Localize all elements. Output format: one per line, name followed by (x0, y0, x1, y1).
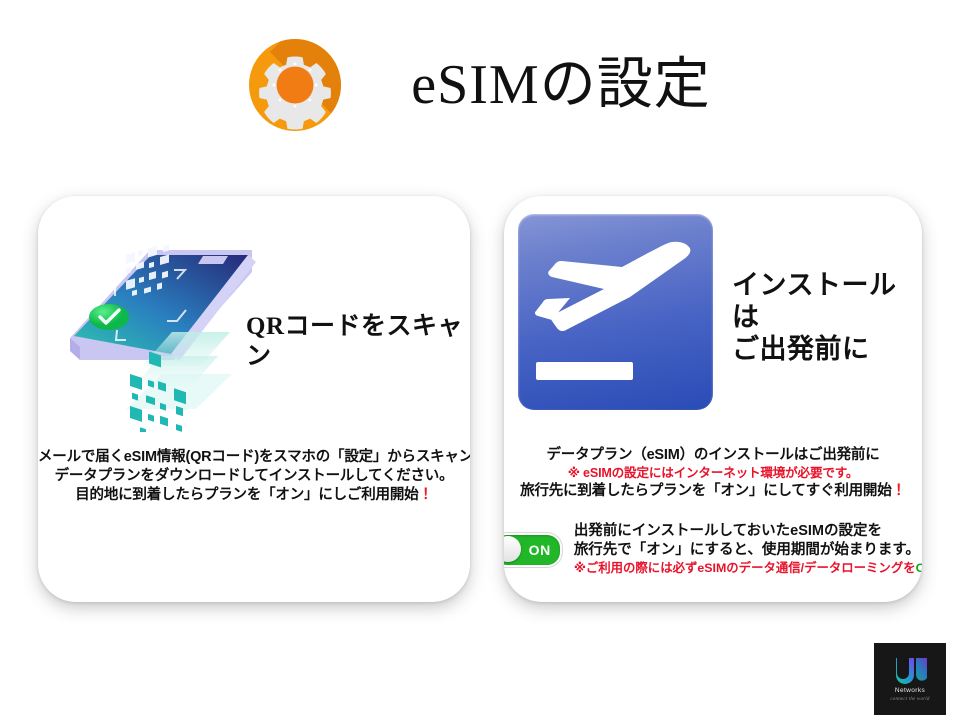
toggle-line-2: 旅行先で「オン」にすると、使用期間が始まります。 (574, 541, 922, 560)
toggle-on-label: ON (529, 543, 551, 557)
card-install-body: データプラン（eSIM）のインストールはご出発前に ※ eSIMの設定にはインタ… (504, 446, 922, 501)
card-scan-qr-line-3-exclamation: ！ (418, 487, 432, 503)
gear-icon (249, 39, 341, 131)
toggle-line-1: 出発前にインストールしておいたeSIMの設定を (574, 522, 922, 541)
page-header: eSIMの設定 (0, 30, 960, 140)
footer-brand-logo: Networks connect the world (874, 643, 946, 715)
card-scan-qr-line-3: 目的地に到着したらプランを「オン」にしご利用開始！ (38, 486, 470, 505)
card-scan-qr-line-3-text: 目的地に到着したらプランを「オン」にしご利用開始 (75, 487, 418, 503)
card-scan-qr-caption: QRコードをスキャン (246, 312, 470, 371)
toggle-line-3-on: ON (916, 561, 922, 575)
esim-toggle-description: 出発前にインストールしておいたeSIMの設定を 旅行先で「オン」にすると、使用期… (574, 522, 922, 577)
card-install-line-3-exclamation: ！ (892, 483, 906, 499)
card-scan-qr-line-2: データプランをダウンロードしてインストールしてください。 (38, 467, 470, 486)
card-install-hero: インストールは ご出発前に (504, 196, 922, 432)
card-scan-qr-line-1: メールで届くeSIM情報(QRコード)をスマホの「設定」からスキャンし、 (38, 448, 470, 467)
esim-toggle-row: ON 出発前にインストールしておいたeSIMの設定を 旅行先で「オン」にすると、… (504, 522, 922, 577)
card-scan-qr: QRコードをスキャン メールで届くeSIM情報(QRコード)をスマホの「設定」か… (38, 196, 470, 602)
card-install-line-1: データプラン（eSIM）のインストールはご出発前に (504, 446, 922, 465)
esim-on-toggle[interactable]: ON (504, 533, 562, 567)
toggle-knob[interactable] (504, 536, 521, 562)
card-install-caption: インストールは ご出発前に (732, 270, 922, 366)
footer-brand-name: Networks (895, 688, 925, 695)
card-scan-qr-hero: QRコードをスキャン (38, 196, 470, 432)
card-install-before-departure: インストールは ご出発前に データプラン（eSIM）のインストールはご出発前に … (504, 196, 922, 602)
toggle-line-3-text: ※ご利用の際には必ずeSIMのデータ通信/データローミングを (574, 561, 916, 575)
card-scan-qr-body: メールで届くeSIM情報(QRコード)をスマホの「設定」からスキャンし、 データ… (38, 448, 470, 505)
brand-mark-icon (893, 656, 927, 686)
card-install-line-2-warning: ※ eSIMの設定にはインターネット環境が必要です。 (504, 465, 922, 482)
page-title: eSIMの設定 (411, 57, 710, 113)
card-install-line-3-text: 旅行先に到着したらプランを「オン」にしてすぐ利用開始 (520, 483, 891, 499)
toggle-line-3-warning: ※ご利用の際には必ずeSIMのデータ通信/データローミングをON (574, 560, 922, 577)
airplane-departure-icon (518, 214, 713, 410)
footer-brand-tagline: connect the world (890, 697, 929, 702)
card-install-line-3: 旅行先に到着したらプランを「オン」にしてすぐ利用開始！ (504, 482, 922, 501)
